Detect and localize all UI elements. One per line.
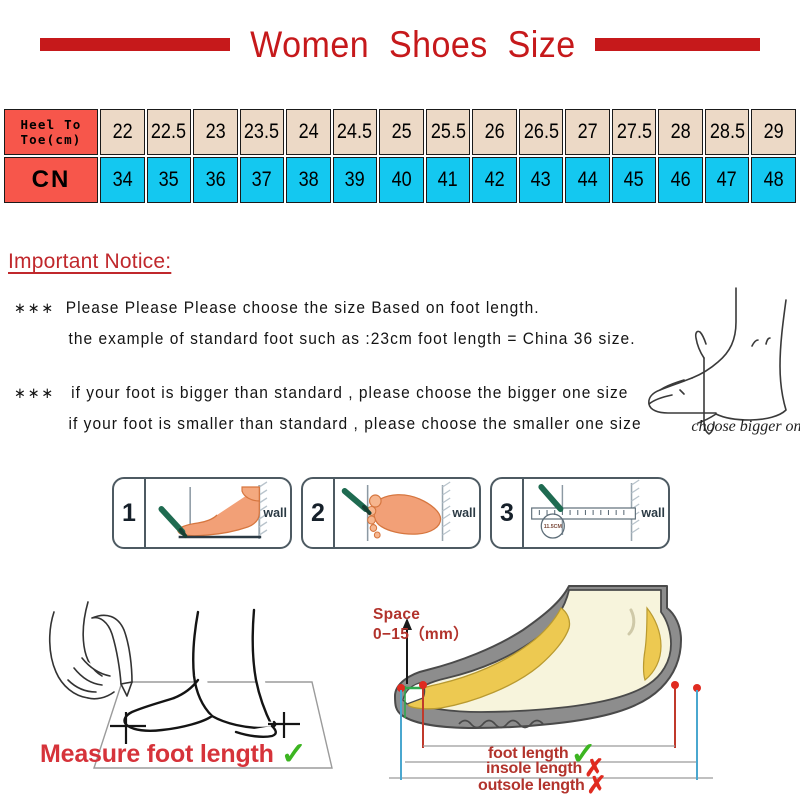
- measure-caption-text: Measure foot length: [40, 740, 274, 769]
- cm-value: 24: [298, 120, 318, 144]
- foot-sole-top-view-icon: wall: [335, 479, 479, 547]
- cm-value: 26.5: [523, 120, 558, 144]
- table-cell-cm: 23.5: [240, 109, 285, 155]
- table-cell-cn: 48: [751, 157, 796, 203]
- asterisk-icon: ∗∗∗: [14, 385, 55, 402]
- notice-line: if your foot is smaller than standard , …: [14, 409, 642, 439]
- cn-value: 37: [252, 168, 272, 192]
- step-box-2: 2 wall: [301, 477, 481, 549]
- cn-value: 41: [438, 168, 458, 192]
- cn-value: 36: [205, 168, 225, 192]
- table-cell-cm: 22.5: [147, 109, 192, 155]
- wall-label: wall: [263, 506, 287, 520]
- table-cell-cn: 38: [286, 157, 331, 203]
- table-cell-cn: 41: [426, 157, 471, 203]
- table-cell-cm: 28: [658, 109, 703, 155]
- table-cell-cn: 35: [147, 157, 192, 203]
- cn-value: 45: [624, 168, 644, 192]
- step-number: 3: [492, 479, 524, 547]
- cross-icon: ✗: [587, 776, 607, 795]
- table-cell-cm: 26.5: [519, 109, 564, 155]
- table-cell-cn: 45: [612, 157, 657, 203]
- step-box-3: 3: [490, 477, 670, 549]
- svg-text:11.5CM: 11.5CM: [544, 524, 563, 530]
- cn-value: 42: [484, 168, 504, 192]
- notice-text: Please Please Please choose the size Bas…: [66, 299, 540, 317]
- outsole-length-label: outsole length ✗: [478, 776, 606, 795]
- step-number: 1: [114, 479, 146, 547]
- asterisk-icon: ∗∗∗: [14, 300, 55, 317]
- row-header-heel-to-toe: Heel To Toe(cm): [4, 109, 98, 155]
- step-number: 2: [303, 479, 335, 547]
- cn-value: 46: [671, 168, 691, 192]
- table-cell-cn: 47: [705, 157, 750, 203]
- page-title: Women Shoes Size: [244, 26, 581, 63]
- table-cell-cm: 28.5: [705, 109, 750, 155]
- cm-value: 28.5: [710, 120, 745, 144]
- cm-value: 23.5: [244, 120, 279, 144]
- horizontal-rule-icon-left: [40, 38, 230, 51]
- notice-line: ∗∗∗ if your foot is bigger than standard…: [14, 378, 642, 409]
- size-chart-table: Heel To Toe(cm) 22 22.5 23 23.5 24 24.5 …: [2, 107, 798, 205]
- cn-value: 35: [159, 168, 179, 192]
- table-cell-cm: 22: [100, 109, 145, 155]
- cm-value: 29: [764, 120, 784, 144]
- cm-value: 22: [112, 120, 132, 144]
- step-box-1: 1 wall: [112, 477, 292, 549]
- table-cell-cm: 24.5: [333, 109, 378, 155]
- notice-text: if your foot is bigger than standard , p…: [71, 384, 628, 402]
- table-cell-cn: 36: [193, 157, 238, 203]
- notice-block-2: ∗∗∗ if your foot is bigger than standard…: [14, 378, 682, 439]
- table-row-cn: CN 34 35 36 37 38 39 40 41 42 43 44 45 4…: [4, 157, 796, 203]
- important-notice-heading: Important Notice:: [8, 250, 171, 274]
- table-cell-cn: 39: [333, 157, 378, 203]
- measure-foot-length-caption: Measure foot length ✓: [40, 740, 307, 769]
- table-cell-cm: 26: [472, 109, 517, 155]
- table-cell-cm: 27: [565, 109, 610, 155]
- table-cell-cn: 46: [658, 157, 703, 203]
- wall-label: wall: [641, 506, 665, 520]
- cm-value: 25: [391, 120, 411, 144]
- table-cell-cn: 34: [100, 157, 145, 203]
- measuring-steps: 1 wall 2: [112, 477, 670, 549]
- notice-line: the example of standard foot such as :23…: [14, 324, 636, 354]
- foot-side-against-wall-icon: wall: [146, 479, 290, 547]
- table-cell-cn: 37: [240, 157, 285, 203]
- table-cell-cn: 42: [472, 157, 517, 203]
- cm-value: 26: [484, 120, 504, 144]
- table-cell-cn: 40: [379, 157, 424, 203]
- cn-value: 48: [764, 168, 784, 192]
- page-title-bar: Women Shoes Size: [0, 18, 800, 70]
- notice-line: ∗∗∗ Please Please Please choose the size…: [14, 293, 636, 324]
- table-cell-cm: 27.5: [612, 109, 657, 155]
- table-cell-cm: 25.5: [426, 109, 471, 155]
- horizontal-rule-icon-right: [595, 38, 760, 51]
- table-cell-cn: 44: [565, 157, 610, 203]
- notice-block-1: ∗∗∗ Please Please Please choose the size…: [14, 293, 675, 354]
- cm-value: 22.5: [151, 120, 186, 144]
- check-icon: ✓: [281, 742, 307, 767]
- cn-value: 44: [578, 168, 598, 192]
- insole-length-text: insole length: [486, 760, 582, 778]
- cn-value: 34: [112, 168, 132, 192]
- cm-value: 24.5: [337, 120, 372, 144]
- cn-value: 40: [391, 168, 411, 192]
- cn-value: 38: [298, 168, 318, 192]
- cn-value: 43: [531, 168, 551, 192]
- table-row-heel-to-toe: Heel To Toe(cm) 22 22.5 23 23.5 24 24.5 …: [4, 109, 796, 155]
- space-label: Space 0−15（mm）: [373, 605, 469, 645]
- table-cell-cm: 29: [751, 109, 796, 155]
- table-cell-cm: 24: [286, 109, 331, 155]
- cm-value: 27: [578, 120, 598, 144]
- cm-value: 27.5: [617, 120, 652, 144]
- outsole-length-text: outsole length: [478, 777, 585, 795]
- cm-value: 25.5: [430, 120, 465, 144]
- wall-label: wall: [452, 506, 476, 520]
- table-cell-cm: 23: [193, 109, 238, 155]
- cm-value: 23: [205, 120, 225, 144]
- row-header-cn: CN: [4, 157, 98, 203]
- table-cell-cm: 25: [379, 109, 424, 155]
- table-cell-cn: 43: [519, 157, 564, 203]
- cn-value: 47: [717, 168, 737, 192]
- choose-bigger-one-caption: choose bigger one: [690, 418, 800, 435]
- cm-value: 28: [671, 120, 691, 144]
- cn-value: 39: [345, 168, 365, 192]
- ruler-measuring-icon: 11.5CM wall: [524, 479, 668, 547]
